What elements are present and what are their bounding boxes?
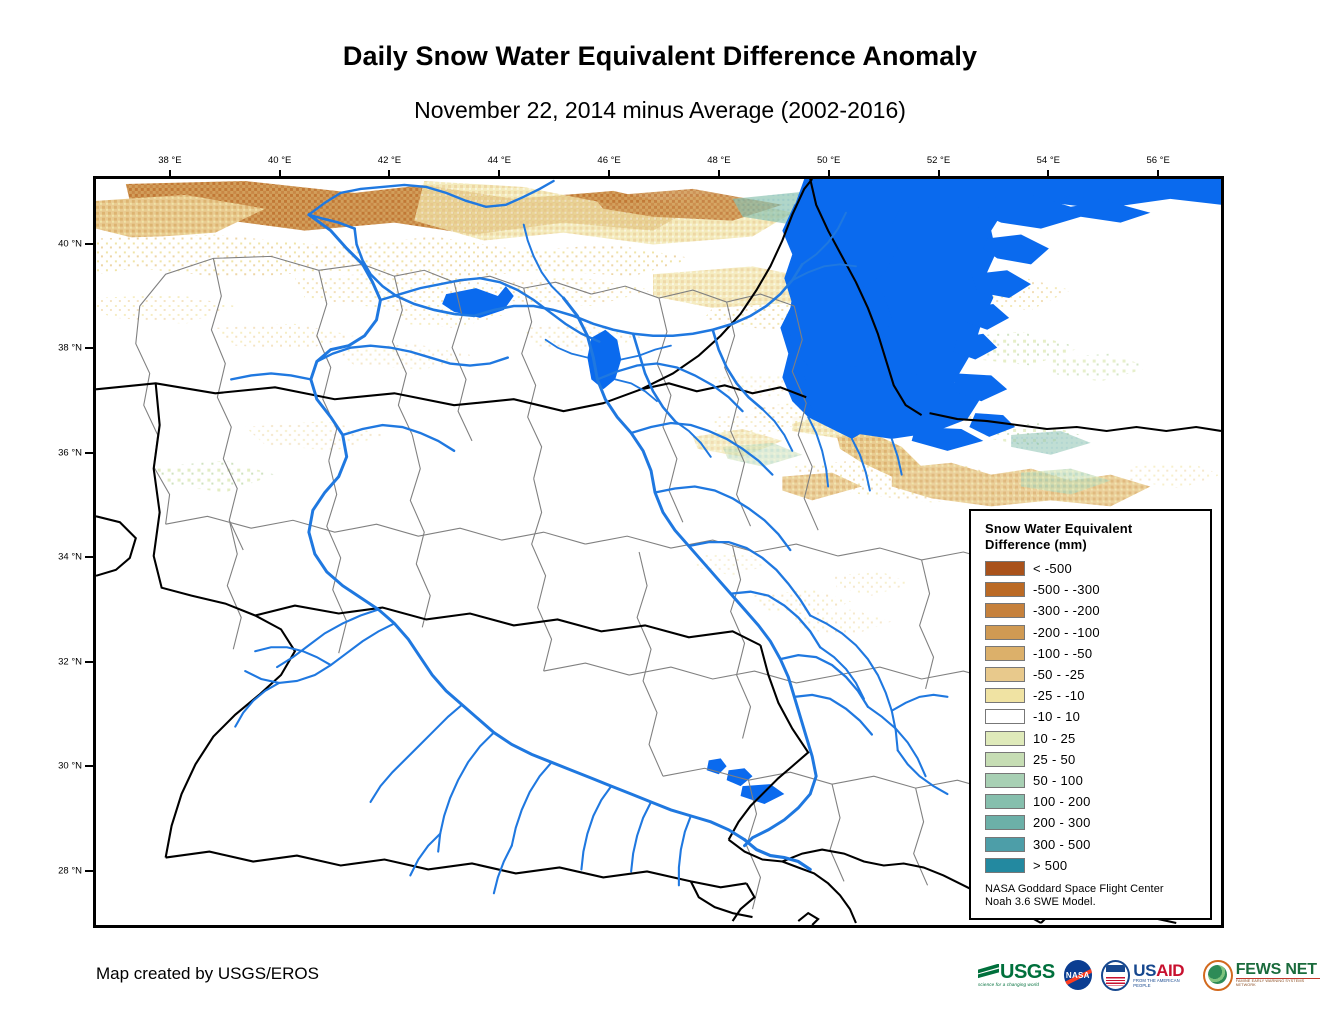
- legend-row: -50 - -25: [985, 664, 1210, 685]
- legend-color-swatch: [985, 688, 1025, 703]
- longitude-tick-label: 38 °E: [158, 155, 181, 166]
- legend-row: 50 - 100: [985, 770, 1210, 791]
- latitude-tick-label: 28 °N: [46, 865, 82, 876]
- legend-color-swatch: [985, 709, 1025, 724]
- legend-credit-line1: NASA Goddard Space Flight Center: [985, 883, 1210, 896]
- legend-color-swatch: [985, 773, 1025, 788]
- latitude-tick-mark: [85, 347, 93, 349]
- legend-credit-line2: Noah 3.6 SWE Model.: [985, 896, 1210, 909]
- longitude-tick-label: 54 °E: [1037, 155, 1060, 166]
- usaid-shield-icon: [1106, 965, 1125, 972]
- longitude-tick-label: 52 °E: [927, 155, 950, 166]
- legend-row: 100 - 200: [985, 791, 1210, 812]
- legend-color-swatch: [985, 646, 1025, 661]
- latitude-tick-mark: [85, 661, 93, 663]
- legend-class-label: -25 - -10: [1033, 688, 1085, 703]
- nasa-wordmark: NASA: [1066, 971, 1090, 980]
- map-author-credit: Map created by USGS/EROS: [96, 964, 319, 984]
- legend-row: > 500: [985, 855, 1210, 876]
- latitude-tick-mark: [85, 556, 93, 558]
- fewsnet-logo: FEWS NET FAMINE EARLY WARNING SYSTEMS NE…: [1203, 960, 1320, 991]
- legend-class-label: -300 - -200: [1033, 603, 1100, 618]
- legend-row: -200 - -100: [985, 622, 1210, 643]
- legend-class-label: -50 - -25: [1033, 667, 1085, 682]
- longitude-tick-label: 44 °E: [488, 155, 511, 166]
- legend-title: Snow Water Equivalent Difference (mm): [985, 521, 1210, 552]
- legend-class-label: > 500: [1033, 858, 1067, 873]
- fewsnet-wordmark: FEWS NET: [1236, 963, 1320, 977]
- legend-color-swatch: [985, 794, 1025, 809]
- legend-class-label: 200 - 300: [1033, 815, 1091, 830]
- legend-class-label: 10 - 25: [1033, 731, 1076, 746]
- map-legend: Snow Water Equivalent Difference (mm) < …: [969, 509, 1212, 920]
- longitude-tick-label: 42 °E: [378, 155, 401, 166]
- usaid-seal-icon: [1101, 960, 1130, 991]
- usgs-tagline: science for a changing world: [978, 982, 1039, 987]
- latitude-tick-label: 30 °N: [46, 761, 82, 772]
- legend-row: 200 - 300: [985, 812, 1210, 833]
- latitude-tick-mark: [85, 452, 93, 454]
- latitude-tick-mark: [85, 243, 93, 245]
- legend-color-swatch: [985, 625, 1025, 640]
- latitude-tick-label: 38 °N: [46, 343, 82, 354]
- legend-color-swatch: [985, 667, 1025, 682]
- legend-color-swatch: [985, 731, 1025, 746]
- longitude-tick-label: 40 °E: [268, 155, 291, 166]
- legend-class-label: 25 - 50: [1033, 752, 1076, 767]
- longitude-tick-label: 56 °E: [1146, 155, 1169, 166]
- agency-logo-bar: USGS science for a changing world NASA U…: [978, 958, 1320, 992]
- legend-row: -500 - -300: [985, 579, 1210, 600]
- legend-row: -100 - -50: [985, 643, 1210, 664]
- longitude-tick-label: 48 °E: [707, 155, 730, 166]
- legend-color-swatch: [985, 858, 1025, 873]
- legend-class-label: 100 - 200: [1033, 794, 1091, 809]
- legend-row: 10 - 25: [985, 728, 1210, 749]
- usaid-tagline: FROM THE AMERICAN PEOPLE: [1133, 978, 1194, 988]
- usaid-logo: USAID FROM THE AMERICAN PEOPLE: [1101, 960, 1194, 991]
- latitude-tick-mark: [85, 765, 93, 767]
- usgs-wave-icon: [978, 964, 999, 981]
- legend-class-list: < -500-500 - -300-300 - -200-200 - -100-…: [985, 558, 1210, 876]
- legend-row: -10 - 10: [985, 706, 1210, 727]
- nasa-logo: NASA: [1064, 960, 1092, 990]
- legend-class-label: -500 - -300: [1033, 582, 1100, 597]
- latitude-tick-mark: [85, 870, 93, 872]
- legend-class-label: 300 - 500: [1033, 837, 1091, 852]
- legend-class-label: 50 - 100: [1033, 773, 1083, 788]
- legend-row: 25 - 50: [985, 749, 1210, 770]
- page-title: Daily Snow Water Equivalent Difference A…: [0, 41, 1320, 72]
- legend-class-label: -100 - -50: [1033, 646, 1092, 661]
- legend-credit: NASA Goddard Space Flight Center Noah 3.…: [985, 883, 1210, 909]
- legend-title-line1: Snow Water Equivalent: [985, 521, 1210, 537]
- legend-color-swatch: [985, 561, 1025, 576]
- latitude-tick-label: 32 °N: [46, 656, 82, 667]
- legend-color-swatch: [985, 837, 1025, 852]
- fewsnet-tagline: FAMINE EARLY WARNING SYSTEMS NETWORK: [1236, 979, 1320, 987]
- usgs-logo: USGS science for a changing world: [978, 964, 1055, 987]
- longitude-tick-label: 50 °E: [817, 155, 840, 166]
- legend-color-swatch: [985, 815, 1025, 830]
- latitude-tick-label: 40 °N: [46, 238, 82, 249]
- legend-color-swatch: [985, 603, 1025, 618]
- latitude-tick-label: 34 °N: [46, 552, 82, 563]
- fewsnet-globe-icon: [1203, 960, 1232, 991]
- legend-row: -300 - -200: [985, 600, 1210, 621]
- legend-color-swatch: [985, 582, 1025, 597]
- latitude-tick-label: 36 °N: [46, 447, 82, 458]
- legend-class-label: -10 - 10: [1033, 709, 1080, 724]
- longitude-tick-label: 46 °E: [597, 155, 620, 166]
- usgs-wordmark: USGS: [1000, 964, 1055, 981]
- legend-row: < -500: [985, 558, 1210, 579]
- legend-color-swatch: [985, 752, 1025, 767]
- legend-class-label: < -500: [1033, 561, 1072, 576]
- legend-row: 300 - 500: [985, 833, 1210, 854]
- legend-row: -25 - -10: [985, 685, 1210, 706]
- legend-title-line2: Difference (mm): [985, 537, 1210, 553]
- legend-class-label: -200 - -100: [1033, 625, 1100, 640]
- page-subtitle: November 22, 2014 minus Average (2002-20…: [0, 97, 1320, 124]
- usaid-stripes-icon: [1106, 977, 1125, 986]
